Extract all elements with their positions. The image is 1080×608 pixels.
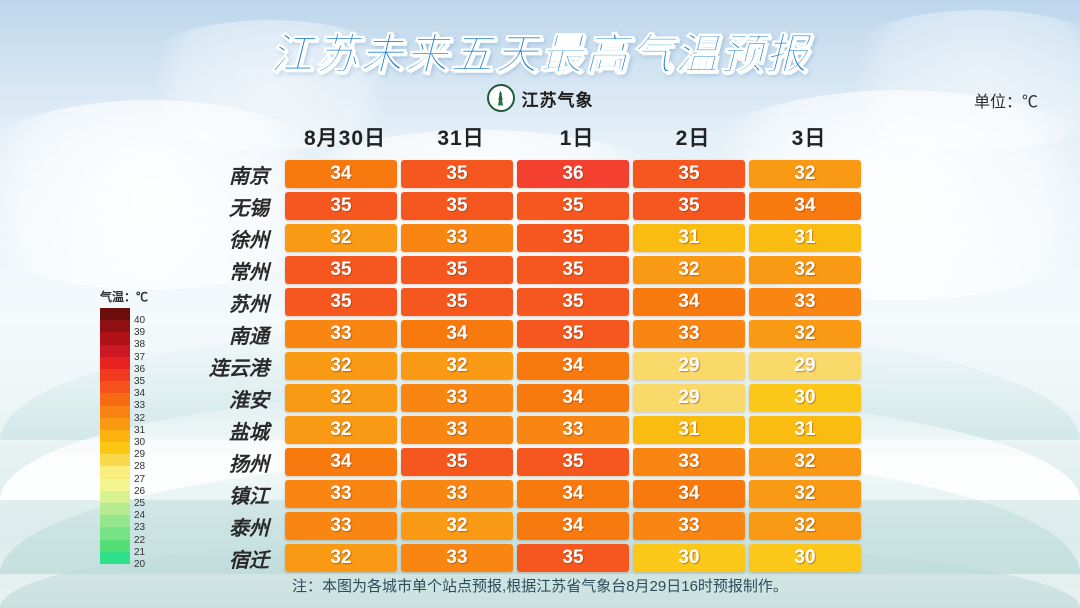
temp-cell: 33 [401, 384, 513, 412]
temp-cell: 34 [517, 384, 629, 412]
temp-cell: 33 [633, 512, 745, 540]
temp-cell: 32 [749, 448, 861, 476]
temp-cell: 35 [517, 288, 629, 316]
temp-cell: 35 [517, 224, 629, 252]
footnote: 注：本图为各城市单个站点预报,根据江苏省气象台8月29日16时预报制作。 [0, 575, 1080, 596]
column-header-4: 2日 [637, 122, 749, 152]
temp-cell: 32 [285, 224, 397, 252]
temp-cell: 34 [517, 480, 629, 508]
temp-cell: 30 [749, 544, 861, 572]
temp-cell: 35 [285, 192, 397, 220]
temp-cell: 33 [401, 224, 513, 252]
city-label-无锡: 无锡 [0, 192, 285, 221]
temp-cell: 35 [285, 288, 397, 316]
table-row: 盐城3233333131 [0, 414, 865, 446]
table-row: 淮安3233342930 [0, 382, 865, 414]
temp-cell: 32 [285, 384, 397, 412]
jiangsu-meteorology-emblem-icon [487, 84, 515, 112]
temp-cell: 33 [401, 544, 513, 572]
temp-cell: 32 [401, 512, 513, 540]
forecast-table: 南京3435363532无锡3535353534徐州3233353131常州35… [0, 158, 865, 574]
temp-cell: 32 [749, 160, 861, 188]
city-label-盐城: 盐城 [0, 416, 285, 445]
temp-cell: 34 [285, 448, 397, 476]
city-label-徐州: 徐州 [0, 224, 285, 253]
temp-cell: 30 [633, 544, 745, 572]
temp-cell: 31 [749, 224, 861, 252]
temp-cell: 35 [285, 256, 397, 284]
temp-cell: 33 [285, 320, 397, 348]
city-label-苏州: 苏州 [0, 288, 285, 317]
city-label-连云港: 连云港 [0, 352, 285, 381]
temp-cell: 32 [401, 352, 513, 380]
temp-cell: 35 [517, 544, 629, 572]
temp-cell: 34 [401, 320, 513, 348]
table-row: 常州3535353232 [0, 254, 865, 286]
city-label-泰州: 泰州 [0, 512, 285, 541]
table-row: 苏州3535353433 [0, 286, 865, 318]
city-label-镇江: 镇江 [0, 480, 285, 509]
temp-cell: 35 [517, 448, 629, 476]
table-row: 连云港3232342929 [0, 350, 865, 382]
table-row: 徐州3233353131 [0, 222, 865, 254]
table-row: 南京3435363532 [0, 158, 865, 190]
temp-cell: 34 [285, 160, 397, 188]
temp-cell: 33 [633, 448, 745, 476]
temp-cell: 35 [401, 160, 513, 188]
table-row: 南通3334353332 [0, 318, 865, 350]
brand-name: 江苏气象 [522, 86, 594, 111]
temp-cell: 32 [749, 256, 861, 284]
temp-cell: 34 [517, 352, 629, 380]
table-row: 无锡3535353534 [0, 190, 865, 222]
unit-label: 单位：℃ [974, 88, 1038, 112]
temp-cell: 35 [517, 320, 629, 348]
city-label-扬州: 扬州 [0, 448, 285, 477]
city-label-淮安: 淮安 [0, 384, 285, 413]
temp-cell: 35 [401, 448, 513, 476]
temp-cell: 29 [633, 384, 745, 412]
column-header-5: 3日 [753, 122, 865, 152]
table-row: 镇江3333343432 [0, 478, 865, 510]
column-header-3: 1日 [521, 122, 633, 152]
temp-cell: 32 [749, 480, 861, 508]
temp-cell: 33 [401, 416, 513, 444]
temp-cell: 31 [633, 416, 745, 444]
brand-logo: 江苏气象 [0, 84, 1080, 112]
city-label-常州: 常州 [0, 256, 285, 285]
temp-cell: 32 [749, 320, 861, 348]
temp-cell: 36 [517, 160, 629, 188]
temp-cell: 34 [633, 288, 745, 316]
temp-cell: 31 [749, 416, 861, 444]
temp-cell: 34 [517, 512, 629, 540]
temp-cell: 31 [633, 224, 745, 252]
city-label-宿迁: 宿迁 [0, 544, 285, 573]
temp-cell: 32 [633, 256, 745, 284]
temp-cell: 33 [517, 416, 629, 444]
temp-cell: 33 [633, 320, 745, 348]
temp-cell: 32 [285, 416, 397, 444]
column-header-2: 31日 [405, 122, 517, 152]
temp-cell: 33 [749, 288, 861, 316]
temp-cell: 35 [401, 192, 513, 220]
temp-cell: 34 [633, 480, 745, 508]
temp-cell: 35 [633, 192, 745, 220]
temp-cell: 33 [401, 480, 513, 508]
temp-cell: 32 [285, 544, 397, 572]
temp-cell: 32 [749, 512, 861, 540]
table-row: 扬州3435353332 [0, 446, 865, 478]
temp-cell: 35 [401, 256, 513, 284]
table-row: 宿迁3233353030 [0, 542, 865, 574]
temp-cell: 32 [285, 352, 397, 380]
temp-cell: 33 [285, 480, 397, 508]
temp-cell: 30 [749, 384, 861, 412]
column-header-1: 8月30日 [289, 122, 401, 152]
temp-cell: 35 [401, 288, 513, 316]
page-title: 江苏未来五天最高气温预报 [0, 20, 1080, 82]
city-label-南京: 南京 [0, 160, 285, 189]
temp-cell: 35 [633, 160, 745, 188]
temp-cell: 35 [517, 256, 629, 284]
temp-cell: 34 [749, 192, 861, 220]
temp-cell: 29 [749, 352, 861, 380]
temp-cell: 35 [517, 192, 629, 220]
table-row: 泰州3332343332 [0, 510, 865, 542]
temp-cell: 33 [285, 512, 397, 540]
city-label-南通: 南通 [0, 320, 285, 349]
temp-cell: 29 [633, 352, 745, 380]
